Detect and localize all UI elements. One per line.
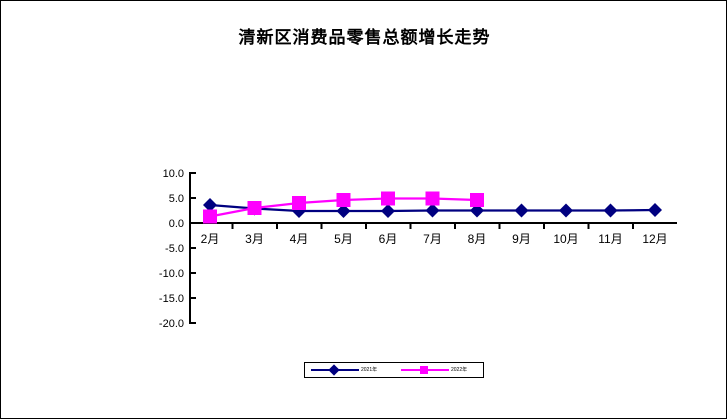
- legend-swatch-series-1: [401, 364, 449, 376]
- legend-entry-series-0: 2021年: [311, 363, 377, 377]
- x-axis-tick-label: 11月: [598, 232, 622, 246]
- square-data-marker: [292, 196, 306, 210]
- chart-screenshot: 清新区消费品零售总额增长走势 10.05.00.0-5.0-10.0-15.0-…: [0, 0, 727, 419]
- plot-area: 10.05.00.0-5.0-10.0-15.0-20.0 2月3月4月5月6月…: [1, 1, 727, 419]
- chart-svg: 10.05.00.0-5.0-10.0-15.0-20.0 2月3月4月5月6月…: [1, 1, 727, 419]
- x-axis-tick-label: 12月: [642, 232, 667, 246]
- diamond-data-marker: [381, 204, 395, 218]
- y-axis-tick-label: -20.0: [159, 318, 184, 330]
- x-axis-tick-label: 9月: [512, 232, 531, 246]
- y-axis-tick-label: 10.0: [163, 168, 184, 180]
- chart-legend: 2021年 2022年: [304, 362, 484, 378]
- square-data-marker: [470, 193, 484, 207]
- square-data-marker: [248, 201, 262, 215]
- x-axis-tick-label: 2月: [201, 232, 220, 246]
- diamond-data-marker: [648, 203, 662, 217]
- x-axis-tick-label: 7月: [423, 232, 442, 246]
- x-axis-tick-label: 10月: [553, 232, 578, 246]
- y-axis-tick-label: -15.0: [159, 293, 184, 305]
- y-axis-tick-label: -5.0: [165, 243, 184, 255]
- y-axis: 10.05.00.0-5.0-10.0-15.0-20.0: [159, 168, 199, 330]
- square-marker-icon: [420, 366, 428, 374]
- x-axis-tick-label: 6月: [379, 232, 398, 246]
- diamond-data-marker: [426, 204, 440, 218]
- legend-entry-series-1: 2022年: [401, 363, 467, 377]
- legend-label-series-1: 2022年: [451, 368, 467, 373]
- y-axis-tick-label: 5.0: [169, 193, 184, 205]
- square-data-marker: [381, 192, 395, 206]
- x-axis-tick-label: 4月: [290, 232, 309, 246]
- diamond-data-marker: [604, 204, 618, 218]
- x-axis-tick-label: 8月: [468, 232, 487, 246]
- square-data-marker: [426, 192, 440, 206]
- square-data-marker: [203, 210, 217, 224]
- square-data-marker: [337, 193, 351, 207]
- y-axis-tick-label: 0.0: [169, 218, 184, 230]
- legend-swatch-series-0: [311, 364, 359, 376]
- legend-label-series-0: 2021年: [361, 368, 377, 373]
- x-axis-tick-label: 3月: [245, 232, 264, 246]
- data-series-group: [203, 192, 662, 224]
- x-axis-tick-label: 5月: [334, 232, 353, 246]
- diamond-data-marker: [515, 204, 529, 218]
- y-axis-tick-label: -10.0: [159, 268, 184, 280]
- x-axis: 2月3月4月5月6月7月8月9月10月11月12月: [190, 223, 677, 246]
- diamond-data-marker: [559, 204, 573, 218]
- diamond-marker-icon: [328, 364, 339, 375]
